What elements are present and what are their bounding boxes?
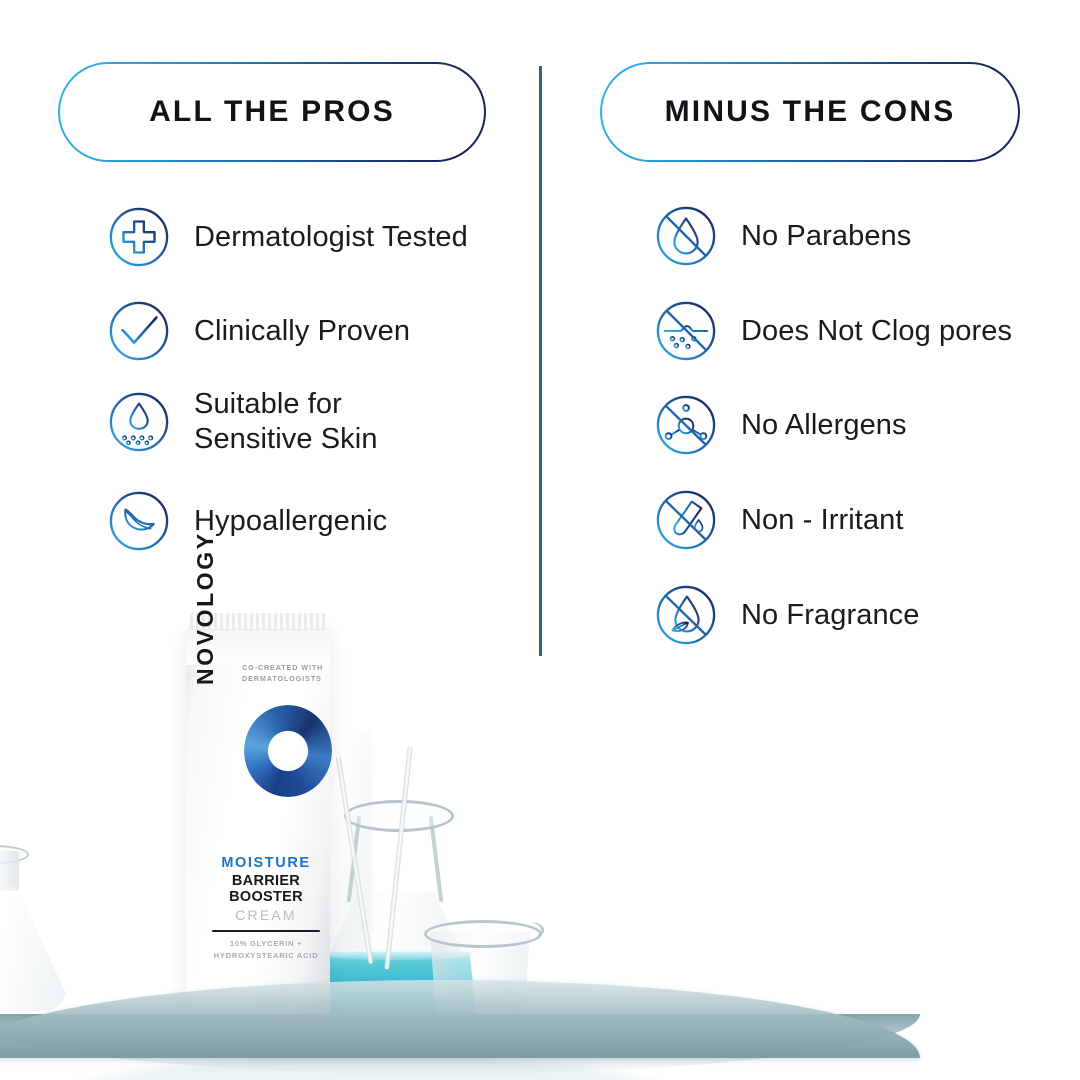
product-name-line2: BARRIER BOOSTER	[206, 873, 326, 905]
cons-pill-inner: MINUS THE CONS	[602, 64, 1018, 160]
cons-item-0: No Parabens	[655, 205, 911, 267]
cons-item-1: Does Not Clog pores	[655, 300, 1012, 362]
product-divider-rule	[212, 930, 320, 932]
cons-item-3-label: Non - Irritant	[741, 503, 904, 537]
no-test-tube-icon	[655, 489, 717, 551]
brand-ring-logo	[244, 705, 332, 797]
no-clog-pores-icon	[655, 300, 717, 362]
flask-left-neck	[0, 851, 19, 891]
pros-item-0-label: Dermatologist Tested	[194, 220, 468, 254]
pros-item-3: Hypoallergenic	[108, 490, 387, 552]
no-droplet-icon	[655, 205, 717, 267]
co-created-text: CO-CREATED WITH DERMATOLOGISTS	[242, 663, 326, 685]
cons-item-1-label: Does Not Clog pores	[741, 314, 1012, 348]
cons-header-pill: MINUS THE CONS	[600, 62, 1020, 162]
pros-item-3-label: Hypoallergenic	[194, 504, 387, 538]
pros-pill-inner: ALL THE PROS	[60, 64, 484, 160]
no-molecule-icon	[655, 394, 717, 456]
plus-circle-icon	[108, 206, 170, 268]
pros-header-label: ALL THE PROS	[149, 95, 395, 129]
droplet-skin-pores-icon	[108, 391, 170, 453]
cons-item-2: No Allergens	[655, 394, 907, 456]
pros-item-1-label: Clinically Proven	[194, 314, 410, 348]
product-tube: NOVOLOGY CO-CREATED WITH DERMATOLOGISTS …	[186, 613, 330, 1033]
feather-icon	[108, 490, 170, 552]
cons-item-3: Non - Irritant	[655, 489, 904, 551]
infographic-canvas: ALL THE PROS MINUS THE CONS Dermatologis…	[0, 0, 1080, 1080]
pros-header-pill: ALL THE PROS	[58, 62, 486, 162]
brand-name: NOVOLOGY	[192, 531, 219, 685]
check-circle-icon	[108, 300, 170, 362]
pros-item-2: Suitable for Sensitive Skin	[108, 387, 378, 457]
product-ingredients: 10% GLYCERIN + HYDROXYSTEARIC ACID	[206, 938, 326, 962]
cons-item-2-label: No Allergens	[741, 408, 907, 442]
tube-body	[186, 625, 330, 1025]
beaker-right-spout	[518, 920, 545, 940]
product-lab-scene: NOVOLOGY CO-CREATED WITH DERMATOLOGISTS …	[0, 565, 1080, 1080]
glass-shelf	[0, 980, 960, 1080]
pros-item-0: Dermatologist Tested	[108, 206, 468, 268]
cons-header-label: MINUS THE CONS	[665, 95, 956, 129]
product-name-line1: MOISTURE	[206, 855, 326, 871]
product-name-line3: CREAM	[206, 907, 326, 923]
cons-item-0-label: No Parabens	[741, 219, 911, 253]
pros-item-2-label: Suitable for Sensitive Skin	[194, 387, 378, 457]
product-name-block: MOISTURE BARRIER BOOSTER CREAM 10% GLYCE…	[206, 855, 326, 962]
pros-item-1: Clinically Proven	[108, 300, 410, 362]
shelf-surface	[0, 980, 920, 1058]
